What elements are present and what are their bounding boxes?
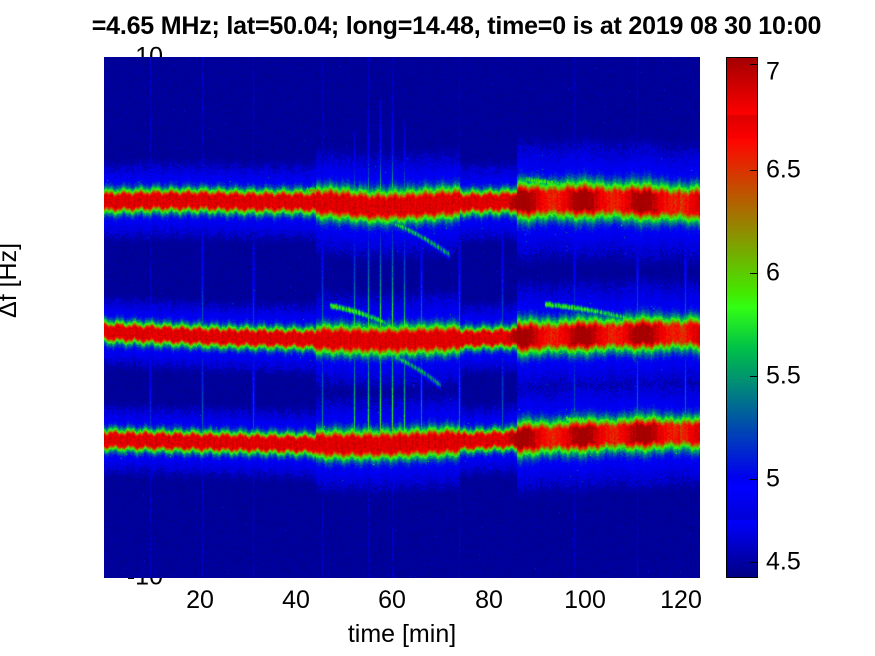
- colorbar-tick-mark-5: [750, 562, 758, 563]
- colorbar-tick-mark-2: [750, 273, 758, 274]
- x-tick-label-3: 80: [449, 586, 529, 615]
- x-tick-label-4: 100: [545, 586, 625, 615]
- colorbar-tick-mark-1: [750, 170, 758, 171]
- colorbar-gradient: [727, 58, 757, 577]
- colorbar-tick-label-5: 4.5: [766, 548, 846, 577]
- colorbar-tick-mark-0: [750, 64, 758, 65]
- spectrogram-plot-area: [104, 57, 700, 578]
- colorbar-tick-mark-3: [750, 376, 758, 377]
- x-tick-label-0: 20: [160, 586, 240, 615]
- colorbar-tick-label-4: 5: [766, 465, 846, 494]
- colorbar-tick-label-1: 6.5: [766, 156, 846, 185]
- colorbar-tick-label-0: 7: [766, 58, 846, 87]
- figure-title: =4.65 MHz; lat=50.04; long=14.48, time=0…: [19, 12, 875, 41]
- colorbar-tick-label-3: 5.5: [766, 362, 846, 391]
- x-tick-label-5: 120: [641, 586, 721, 615]
- y-axis-label: Δf [Hz]: [0, 243, 23, 318]
- colorbar: [726, 57, 758, 578]
- colorbar-tick-mark-4: [750, 479, 758, 480]
- x-axis-label: time [min]: [0, 620, 804, 649]
- doppler-spectrogram-figure: =4.65 MHz; lat=50.04; long=14.48, time=0…: [0, 0, 875, 656]
- spectrogram-image: [104, 57, 700, 578]
- x-tick-label-1: 40: [256, 586, 336, 615]
- x-tick-label-2: 60: [352, 586, 432, 615]
- colorbar-tick-label-2: 6: [766, 259, 846, 288]
